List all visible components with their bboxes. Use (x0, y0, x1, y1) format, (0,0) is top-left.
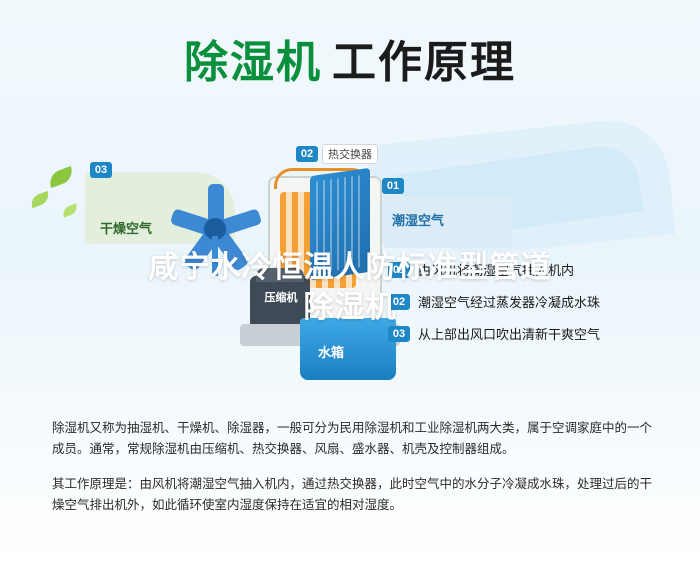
copy-paragraph-1: 除湿机又称为抽湿机、干燥机、除湿器，一般可分为民用除湿机和工业除湿机两大类，属于… (52, 418, 652, 460)
heat-exchanger-tag: 热交换器 (322, 144, 378, 164)
humid-air-label: 潮湿空气 (392, 210, 444, 229)
water-tank (300, 318, 396, 380)
title-rest-text: 工作原理 (332, 38, 516, 87)
title-accent-text: 除湿机 (184, 38, 322, 87)
water-tank-label: 水箱 (318, 342, 344, 361)
leaf-icon (61, 204, 79, 218)
dehumidifier-principle-poster: 除湿机工作原理 03 干燥空气 02 热交换器 (0, 0, 700, 566)
body-copy: 除湿机又称为抽湿机、干燥机、除湿器，一般可分为民用除湿机和工业除湿机两大类，属于… (52, 418, 652, 524)
step-badge-03: 03 (388, 326, 410, 342)
step-text-01: 由风机将潮湿空气抽入机内 (418, 260, 574, 279)
page-title: 除湿机工作原理 (0, 26, 700, 90)
step-list: 01 由风机将潮湿空气抽入机内 02 潮湿空气经过蒸发器冷凝成水珠 03 从上部… (388, 260, 688, 356)
heat-exchanger-fins (316, 175, 364, 274)
fan-stem (212, 236, 218, 276)
heat-exchanger-block (310, 168, 370, 280)
leaf-icon (46, 166, 75, 188)
copy-paragraph-2: 其工作原理是：由风机将潮湿空气抽入机内，通过热交换器，此时空气中的水分子冷凝成水… (52, 474, 652, 516)
compressor-cap (256, 268, 304, 282)
fan-icon (166, 178, 264, 276)
badge-03-diagram: 03 (90, 162, 112, 178)
badge-02-diagram: 02 (296, 146, 318, 162)
dry-air-label: 干燥空气 (100, 218, 152, 237)
leaf-icon (29, 191, 52, 208)
principle-illustration: 03 干燥空气 02 热交换器 01 潮湿空气 压缩机 (0, 110, 700, 400)
badge-01-diagram: 01 (382, 178, 404, 194)
step-badge-02: 02 (388, 294, 410, 310)
step-badge-01: 01 (388, 262, 410, 278)
step-text-02: 潮湿空气经过蒸发器冷凝成水珠 (418, 292, 600, 311)
step-item: 03 从上部出风口吹出清新干爽空气 (388, 324, 688, 343)
step-item: 01 由风机将潮湿空气抽入机内 (388, 260, 688, 279)
step-text-03: 从上部出风口吹出清新干爽空气 (418, 324, 600, 343)
step-item: 02 潮湿空气经过蒸发器冷凝成水珠 (388, 292, 688, 311)
compressor-label: 压缩机 (258, 292, 304, 305)
